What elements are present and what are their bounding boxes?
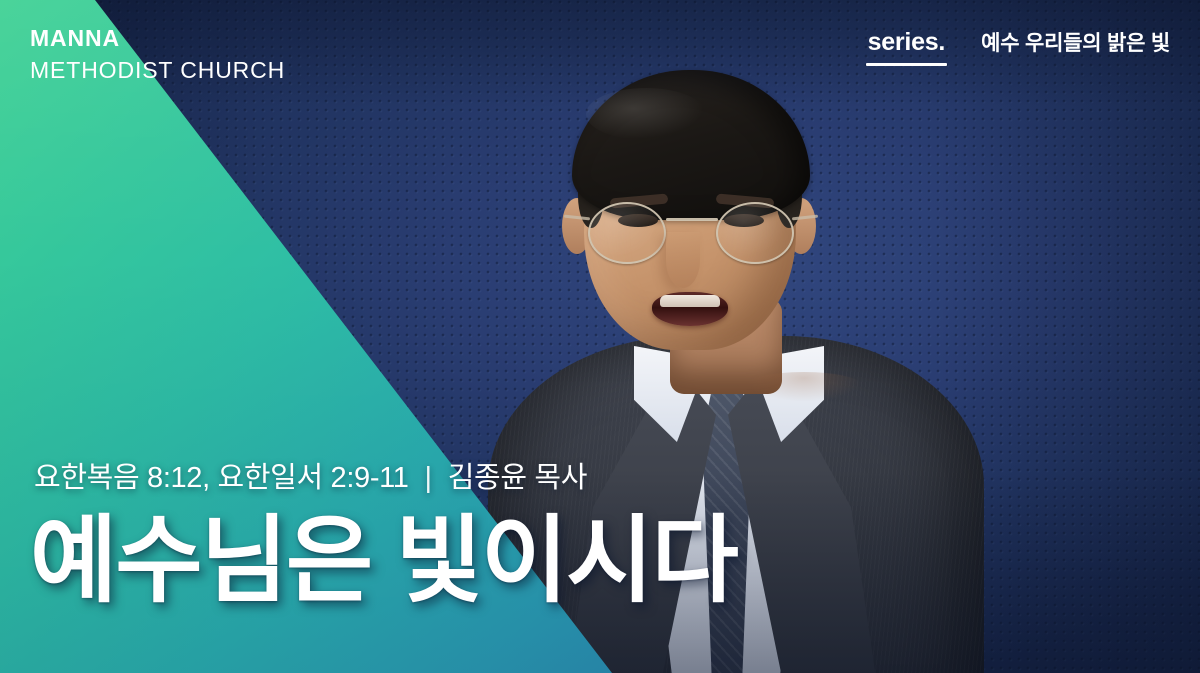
series-label: series. (868, 28, 946, 66)
series-title: 예수 우리들의 밝은 빛 (981, 27, 1170, 57)
series-lockup: series. 예수 우리들의 밝은 빛 (868, 27, 1170, 66)
sermon-title: 예수님은 빛이시다 (30, 508, 737, 614)
broadcast-overlay-frame: MANNA METHODIST CHURCH series. 예수 우리들의 밝… (0, 0, 1200, 673)
speaker-name: 김종윤 목사 (448, 462, 587, 494)
scripture-and-speaker-line: 요한복음 8:12, 요한일서 2:9-11|김종윤 목사 (34, 454, 587, 496)
church-denomination: METHODIST CHURCH (30, 56, 285, 85)
scripture-speaker-separator: | (409, 462, 448, 495)
church-brand-lockup: MANNA METHODIST CHURCH (30, 24, 285, 85)
church-name: MANNA (30, 24, 285, 53)
scripture-reference: 요한복음 8:12, 요한일서 2:9-11 (34, 462, 409, 494)
